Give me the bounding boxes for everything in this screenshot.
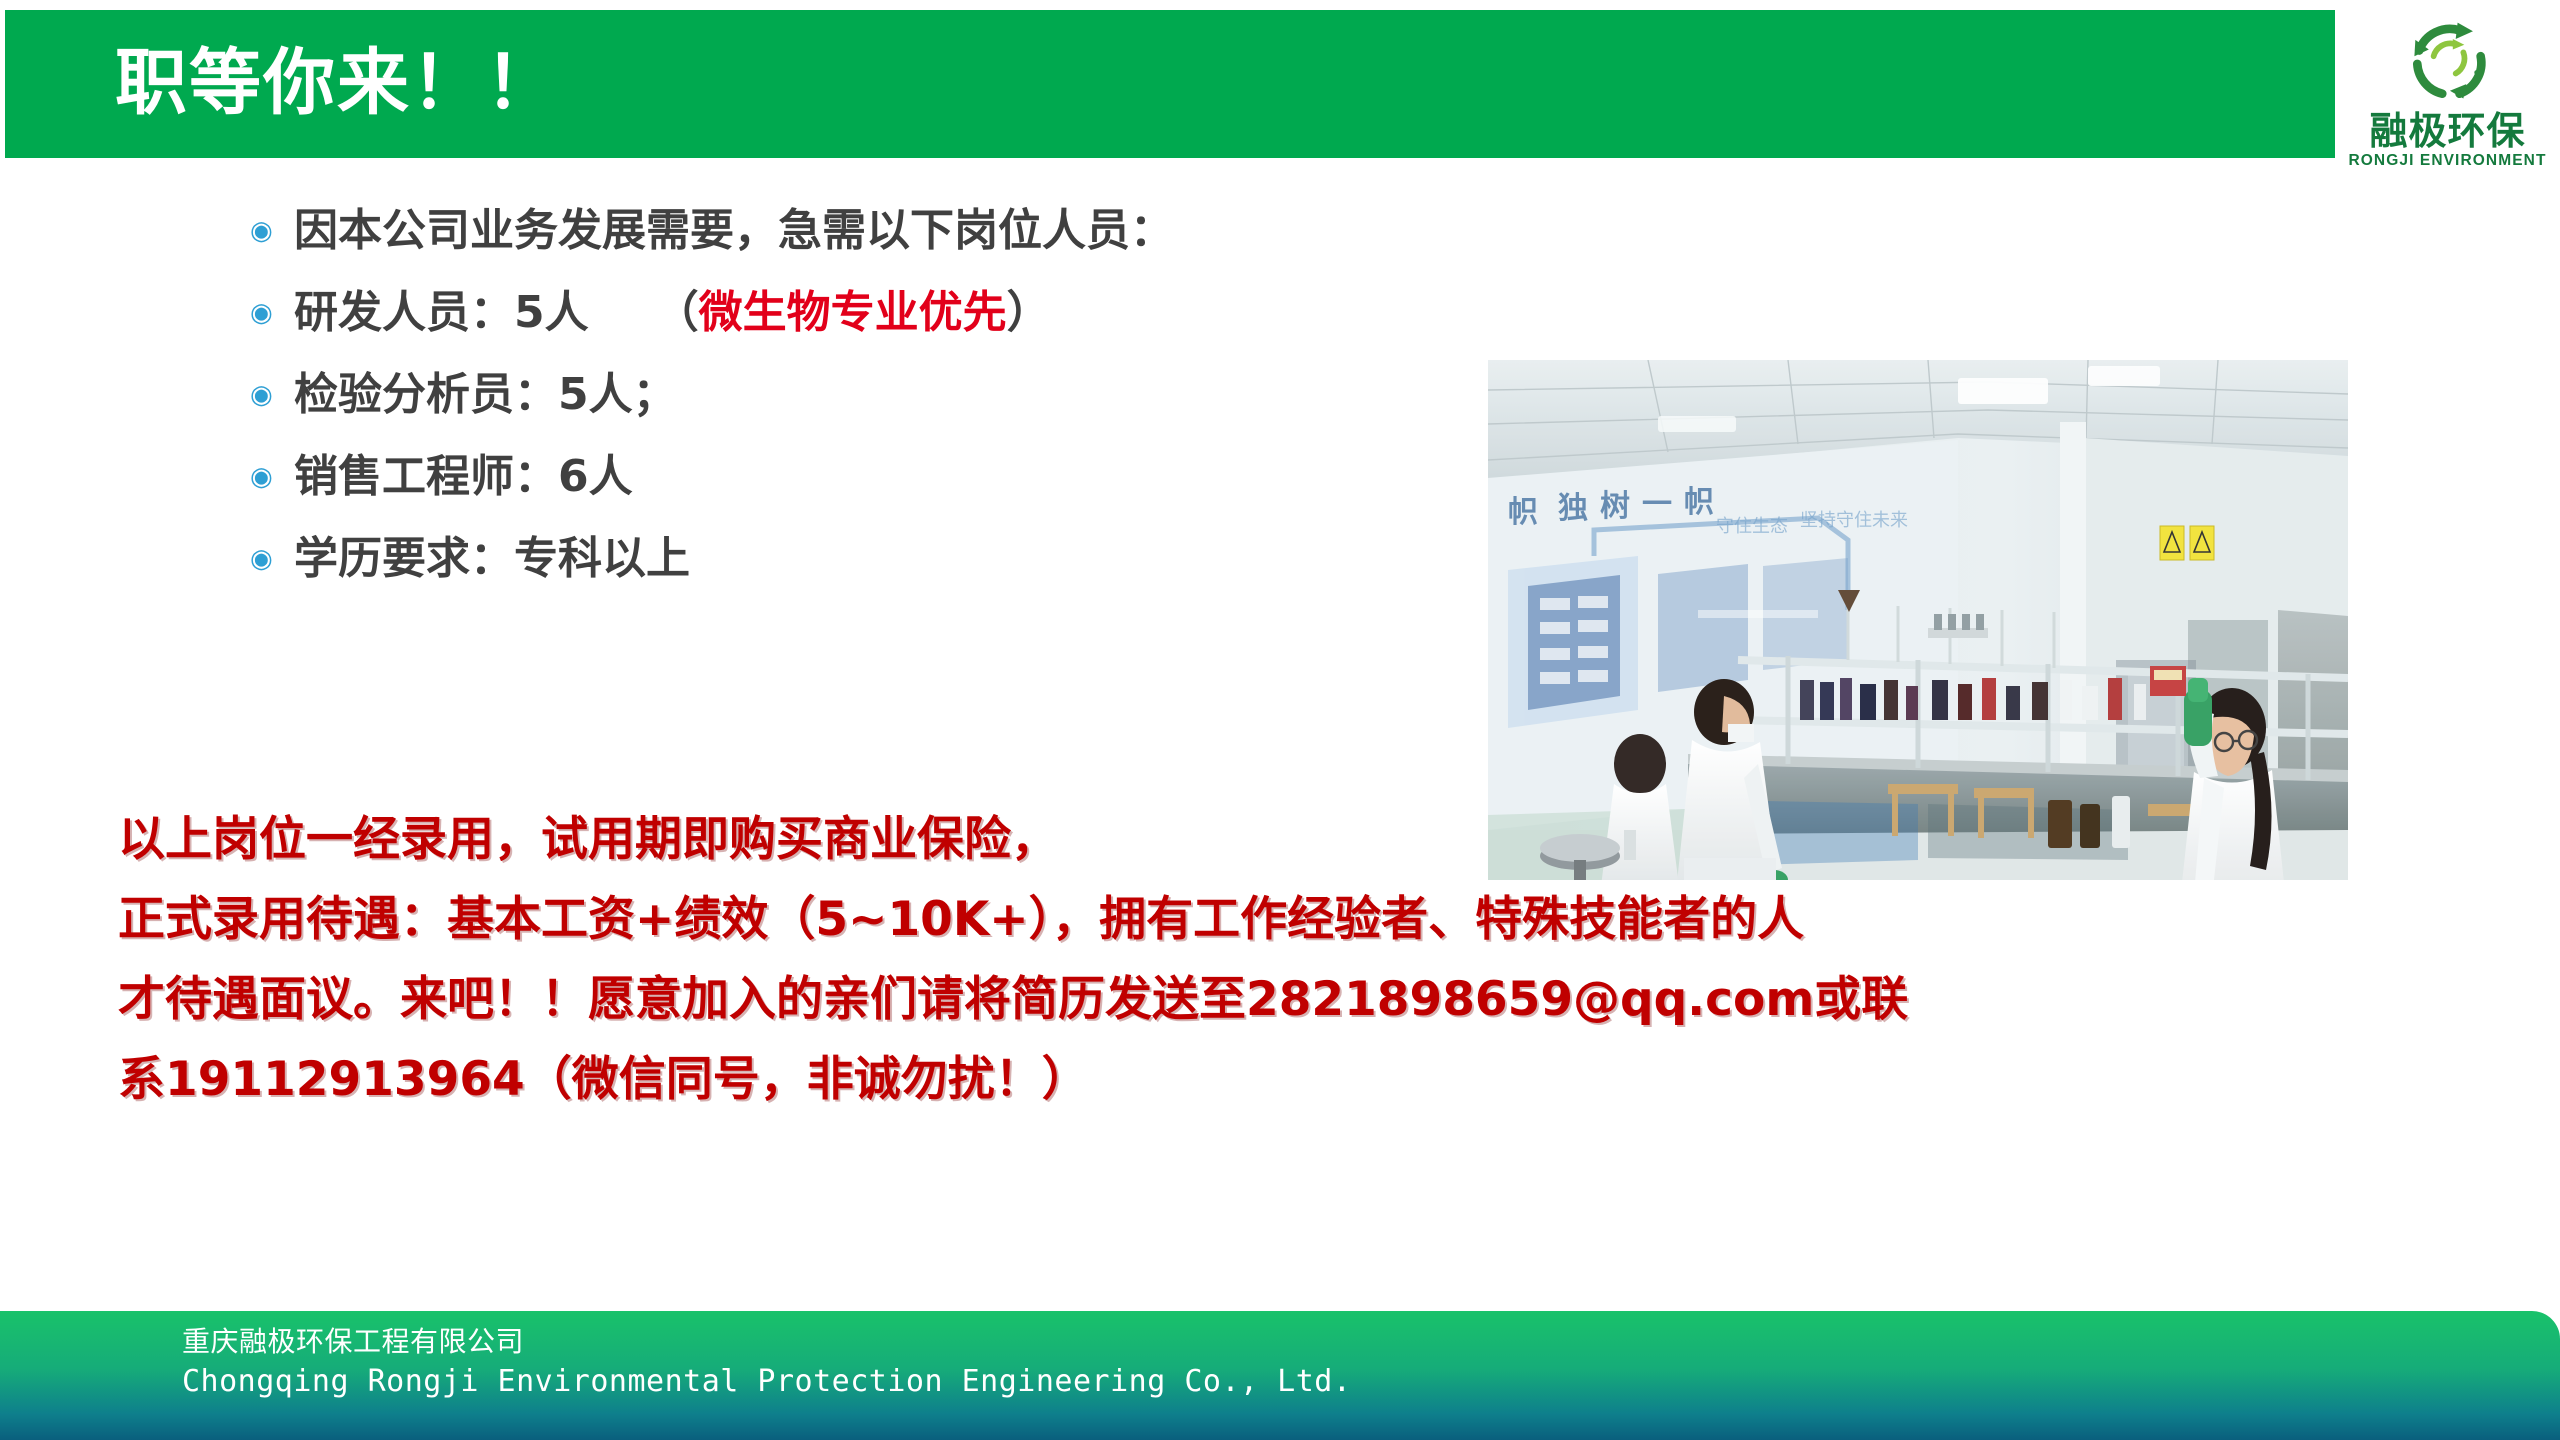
bullet-tail-text: ） [1007,291,1051,335]
list-item: ◉ 因本公司业务发展需要，急需以下岗位人员： [250,196,1470,266]
notice-line: 才待遇面议。来吧！！愿意加入的亲们请将简历发送至2821898659@qq.co… [118,960,2448,1040]
page-title: 职等你来！！ [115,47,559,119]
bullet-text: 研发人员：5人 （ [294,291,699,335]
bullet-text: 检验分析员：5人； [294,373,677,417]
header-banner: 职等你来！！ [5,10,2335,158]
bullet-text: 销售工程师：6人 [294,455,633,499]
bullet-text: 因本公司业务发展需要，急需以下岗位人员： [294,209,1174,253]
notice-line: 系19112913964（微信同号，非诚勿扰！） [118,1040,2448,1120]
logo-company-cn: 融极环保 [2369,112,2525,150]
footer-company-cn: 重庆融极环保工程有限公司 [182,1325,524,1359]
list-item: ◉ 研发人员：5人 （ 微生物专业优先 ） [250,278,1470,348]
bullet-accent-text: 微生物专业优先 [699,291,1007,335]
company-logo: 融极环保 RONGJI ENVIRONMENT [2335,0,2560,205]
footer-bar: 重庆融极环保工程有限公司 Chongqing Rongji Environmen… [0,1311,2560,1440]
list-item: ◉ 检验分析员：5人； [250,360,1470,430]
bullet-dot-icon: ◉ [250,382,294,408]
job-bullet-list: ◉ 因本公司业务发展需要，急需以下岗位人员： ◉ 研发人员：5人 （ 微生物专业… [250,196,1470,606]
bullet-text: 学历要求：专科以上 [294,537,690,581]
list-item: ◉ 销售工程师：6人 [250,442,1470,512]
recycle-circle-arrows-icon [2400,14,2496,110]
notice-line: 正式录用待遇：基本工资+绩效（5~10K+），拥有工作经验者、特殊技能者的人 [118,880,2448,960]
bullet-dot-icon: ◉ [250,300,294,326]
bullet-dot-icon: ◉ [250,546,294,572]
bullet-dot-icon: ◉ [250,218,294,244]
footer-company-en: Chongqing Rongji Environmental Protectio… [182,1364,1351,1400]
bullet-dot-icon: ◉ [250,464,294,490]
list-item: ◉ 学历要求：专科以上 [250,524,1470,594]
logo-company-en: RONGJI ENVIRONMENT [2348,153,2546,169]
recruitment-notice: 以上岗位一经录用，试用期即购买商业保险， 正式录用待遇：基本工资+绩效（5~10… [118,800,2448,1120]
notice-line: 以上岗位一经录用，试用期即购买商业保险， [118,800,2448,880]
